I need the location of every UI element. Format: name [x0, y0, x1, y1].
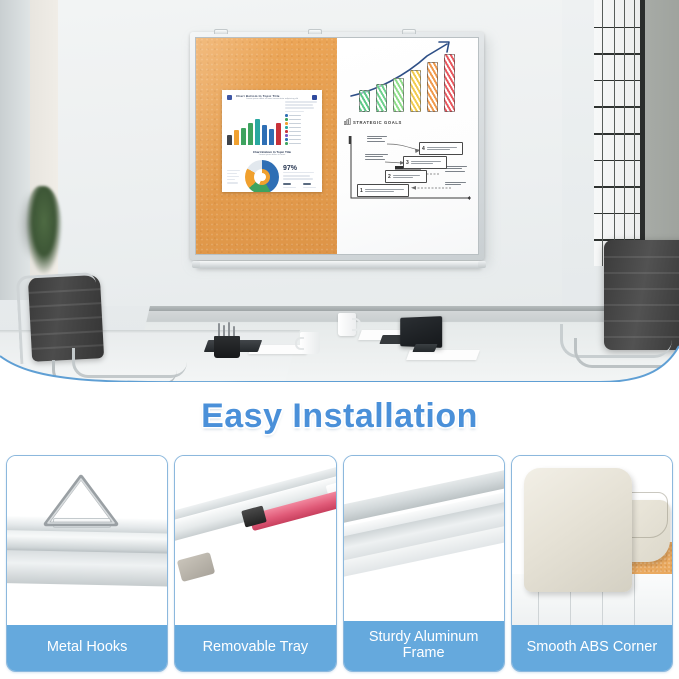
tray-end-cap-icon	[478, 261, 486, 268]
poster-section2-title: Chart Bottom In Topic Title	[227, 150, 317, 155]
hand-drawn-bar	[444, 54, 455, 112]
poster-logo-right-icon	[312, 95, 317, 100]
flow-step-1: 1	[357, 184, 409, 197]
feature-card-removable-tray[interactable]: Removable Tray	[174, 455, 336, 672]
card-caption: Smooth ABS Corner	[512, 625, 672, 671]
cork-surface: Chart Bottom In Topic Title Lorem ipsum …	[196, 38, 337, 254]
board-aluminum-frame: Chart Bottom In Topic Title Lorem ipsum …	[190, 32, 484, 260]
office-chair-left	[12, 276, 122, 381]
legend-label	[289, 119, 302, 120]
legend-label	[289, 127, 302, 128]
tablet-stand	[412, 344, 437, 352]
poster-donut-chart	[245, 160, 279, 192]
poster-bar	[255, 119, 260, 145]
metal-hooks-image	[7, 456, 167, 625]
feature-card-metal-hooks[interactable]: Metal Hooks	[6, 455, 168, 672]
mount-tab-icon	[402, 29, 416, 34]
legend-label	[289, 135, 302, 136]
legend-label	[289, 123, 302, 124]
poster-legend	[285, 101, 317, 144]
page-title: Easy Installation	[0, 397, 679, 436]
legend-dot-icon	[285, 118, 288, 121]
legend-dot-icon	[285, 126, 288, 129]
aluminum-frame-image	[344, 456, 504, 621]
note-scribble	[445, 182, 469, 187]
feature-card-aluminum-frame[interactable]: Sturdy Aluminum Frame	[343, 455, 505, 672]
removable-tray-image	[175, 456, 335, 625]
legend-dot-icon	[285, 142, 288, 145]
tray-end-cap	[177, 552, 216, 582]
metal-hook-icon	[39, 472, 123, 532]
card-caption: Metal Hooks	[7, 625, 167, 671]
office-scene-photo: Chart Bottom In Topic Title Lorem ipsum …	[0, 0, 679, 382]
hand-drawn-bar	[427, 62, 438, 112]
shelf-edge	[640, 0, 645, 266]
poster-header: Chart Bottom In Topic Title Lorem ipsum …	[227, 94, 317, 101]
legend-dot-icon	[285, 134, 288, 137]
poster-legend-item	[285, 122, 301, 125]
legend-label	[289, 143, 302, 144]
poster-bar	[227, 135, 232, 144]
tray-end-cap-icon	[192, 261, 200, 268]
card-caption: Removable Tray	[175, 625, 335, 671]
note-scribble	[367, 136, 389, 143]
poster-bar	[269, 129, 274, 145]
card-caption: Sturdy Aluminum Frame	[344, 621, 504, 671]
poster-bar	[234, 130, 239, 144]
abs-corner-icon	[524, 468, 632, 592]
poster-legend-item	[285, 114, 301, 117]
flowchart-drawing: 4 3 2 1	[347, 132, 475, 204]
abs-corner-image	[512, 456, 672, 625]
chair-armrest	[52, 360, 177, 382]
flow-step-4: 4	[419, 142, 463, 155]
poster-title: Chart Bottom In Topic Title	[236, 94, 308, 98]
flow-step-2: 2	[385, 170, 427, 183]
poster-logo-left-icon	[227, 95, 232, 100]
board-surface: Chart Bottom In Topic Title Lorem ipsum …	[195, 37, 479, 255]
legend-label	[289, 131, 302, 132]
hand-drawn-bar	[376, 84, 387, 112]
legend-label	[289, 139, 302, 140]
legend-dot-icon	[285, 138, 288, 141]
poster-legend-item	[285, 118, 301, 121]
legend-dot-icon	[285, 122, 288, 125]
strategic-goals-heading: STRATEGIC GOALS	[353, 120, 402, 125]
hand-drawn-bar	[359, 90, 370, 112]
feature-card-abs-corner[interactable]: Smooth ABS Corner	[511, 455, 673, 672]
coffee-cup	[338, 313, 356, 336]
easy-installation-section: Easy Installation Metal Hooks	[0, 382, 679, 679]
note-scribble	[445, 166, 469, 173]
hand-drawn-bar	[410, 70, 421, 112]
legend-dot-icon	[285, 114, 288, 117]
legend-label	[289, 115, 302, 116]
whiteboard-surface: STRATEGIC GOALS	[337, 38, 478, 254]
board-marker-tray	[196, 261, 482, 268]
poster-legend-item	[285, 138, 301, 141]
poster-percent: 97%	[283, 165, 317, 172]
poster-section2-subtitle: Lorem ipsum dolor sit amet	[227, 154, 317, 157]
hand-drawn-bar-chart	[353, 54, 463, 112]
poster-bar	[276, 123, 281, 145]
poster-legend-item	[285, 142, 301, 145]
hand-drawn-bar	[393, 78, 404, 112]
window-shelf-grid	[594, 0, 640, 266]
note-scribble	[365, 154, 389, 161]
poster-legend-item	[285, 126, 301, 129]
mount-tab-icon	[214, 29, 228, 34]
poster-legend-item	[285, 134, 301, 137]
poster-bar-chart	[227, 119, 281, 145]
pen-holder	[214, 336, 240, 358]
frame-profile-lower	[7, 549, 167, 587]
infographic-poster: Chart Bottom In Topic Title Lorem ipsum …	[222, 90, 322, 192]
legend-dot-icon	[285, 130, 288, 133]
coffee-cup	[300, 332, 320, 354]
mount-tab-icon	[308, 29, 322, 34]
poster-bar	[248, 123, 253, 144]
flow-step-3: 3	[403, 156, 447, 169]
poster-bar	[241, 128, 246, 145]
chair-armrest	[574, 338, 679, 368]
feature-card-grid: Metal Hooks Removable Tray Sturdy Alum	[6, 455, 673, 672]
office-chair-right	[560, 240, 679, 380]
bar-chart-icon	[344, 118, 351, 125]
combination-board: Chart Bottom In Topic Title Lorem ipsum …	[190, 32, 484, 260]
potted-plant-icon	[26, 186, 62, 274]
poster-legend-item	[285, 130, 301, 133]
poster-subtitle: Lorem ipsum dolor sit amet consectetur a…	[236, 98, 308, 101]
poster-bar	[262, 125, 267, 144]
